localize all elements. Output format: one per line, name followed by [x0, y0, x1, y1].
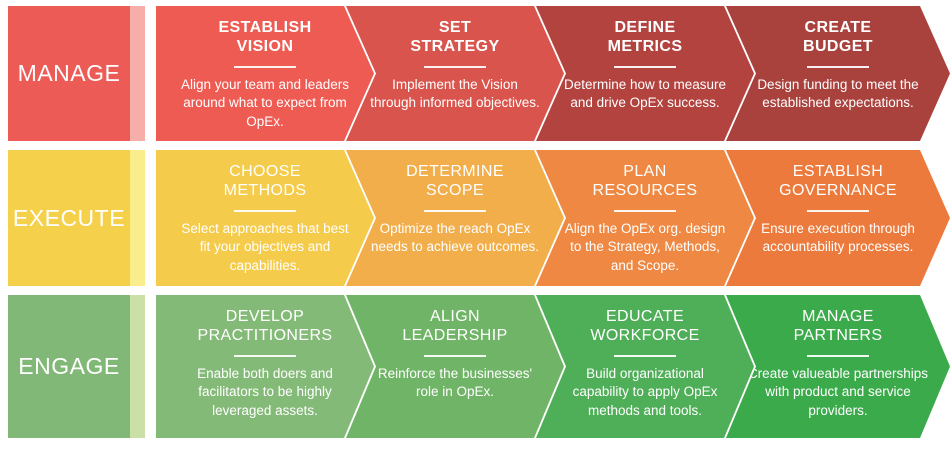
category-label-engage: ENGAGE [18, 353, 119, 380]
step-body-establish-vision: Align your team and leaders around what … [156, 76, 374, 132]
step-title-line2: VISION [237, 38, 294, 55]
step-arrow-create-budget[interactable]: CREATE BUDGET Design funding to meet the… [726, 6, 950, 141]
step-title-line1: DETERMINE [406, 163, 504, 180]
step-body-plan-resources: Align the OpEx org. design to the Strate… [536, 220, 754, 276]
step-body-establish-governance: Ensure execution through accountability … [726, 220, 950, 257]
step-title-define-metrics: DEFINE METRICS [574, 19, 717, 57]
row-engage: ENGAGE DEVELOP PRACTITIONERS Enable both… [0, 295, 950, 438]
step-arrow-develop-practitioners[interactable]: DEVELOP PRACTITIONERS Enable both doers … [156, 295, 374, 438]
arrow-group-execute: CHOOSE METHODS Select approaches that be… [156, 150, 950, 286]
step-title-set-strategy: SET STRATEGY [376, 19, 533, 57]
step-divider [807, 355, 869, 357]
step-divider [424, 66, 486, 68]
step-title-educate-workforce: EDUCATE WORKFORCE [556, 308, 733, 346]
step-title-line2: PRACTITIONERS [198, 327, 333, 344]
step-arrow-educate-workforce[interactable]: EDUCATE WORKFORCE Build organizational c… [536, 295, 754, 438]
category-label-manage: MANAGE [18, 60, 121, 87]
step-divider [614, 355, 676, 357]
step-body-create-budget: Design funding to meet the established e… [726, 76, 950, 113]
step-title-line2: LEADERSHIP [402, 327, 507, 344]
step-title-line1: PLAN [623, 163, 666, 180]
step-title-line1: SET [439, 19, 471, 36]
step-divider [807, 210, 869, 212]
step-arrow-align-leadership[interactable]: ALIGN LEADERSHIP Reinforce the businesse… [346, 295, 564, 438]
step-title-develop-practitioners: DEVELOP PRACTITIONERS [178, 308, 353, 346]
step-title-establish-governance: ESTABLISH GOVERNANCE [759, 163, 917, 201]
arrow-group-engage: DEVELOP PRACTITIONERS Enable both doers … [156, 295, 950, 438]
row-execute: EXECUTE CHOOSE METHODS Select approaches… [0, 150, 950, 286]
step-title-line1: DEVELOP [226, 308, 304, 325]
step-title-line2: METRICS [608, 38, 683, 55]
step-arrow-manage-partners[interactable]: MANAGE PARTNERS Create valueable partner… [726, 295, 950, 438]
arrow-group-manage: ESTABLISH VISION Align your team and lea… [156, 6, 950, 141]
step-body-manage-partners: Create valueable partnerships with produ… [726, 365, 950, 421]
category-block-execute: EXECUTE [8, 150, 145, 286]
step-arrow-establish-governance[interactable]: ESTABLISH GOVERNANCE Ensure execution th… [726, 150, 950, 286]
step-title-line1: DEFINE [614, 19, 675, 36]
step-title-line1: ALIGN [430, 308, 480, 325]
category-fill-execute: EXECUTE [8, 150, 130, 286]
step-title-line1: EDUCATE [606, 308, 684, 325]
step-divider [424, 355, 486, 357]
step-body-align-leadership: Reinforce the businesses' role in OpEx. [346, 365, 564, 402]
opex-framework-diagram: MANAGE ESTABLISH VISION Align your team … [0, 0, 950, 450]
step-divider [424, 210, 486, 212]
step-body-develop-practitioners: Enable both doers and facilitators to be… [156, 365, 374, 421]
step-divider [807, 66, 869, 68]
step-title-line2: WORKFORCE [590, 327, 699, 344]
step-title-manage-partners: MANAGE PARTNERS [774, 308, 903, 346]
category-fill-manage: MANAGE [8, 6, 130, 141]
step-body-determine-scope: Optimize the reach OpEx needs to achieve… [346, 220, 564, 257]
step-title-line2: PARTNERS [794, 327, 883, 344]
step-title-line2: RESOURCES [593, 182, 698, 199]
step-arrow-choose-methods[interactable]: CHOOSE METHODS Select approaches that be… [156, 150, 374, 286]
step-title-line2: GOVERNANCE [779, 182, 897, 199]
step-title-create-budget: CREATE BUDGET [783, 19, 893, 57]
step-arrow-set-strategy[interactable]: SET STRATEGY Implement the Vision throug… [346, 6, 564, 141]
step-title-line2: BUDGET [803, 38, 873, 55]
row-manage: MANAGE ESTABLISH VISION Align your team … [0, 6, 950, 141]
step-body-set-strategy: Implement the Vision through informed ob… [346, 76, 564, 113]
step-body-educate-workforce: Build organizational capability to apply… [536, 365, 754, 421]
step-title-align-leadership: ALIGN LEADERSHIP [368, 308, 541, 346]
step-divider [234, 210, 296, 212]
step-arrow-plan-resources[interactable]: PLAN RESOURCES Align the OpEx org. desig… [536, 150, 754, 286]
category-block-engage: ENGAGE [8, 295, 145, 438]
step-title-choose-methods: CHOOSE METHODS [190, 163, 341, 201]
step-title-line1: CREATE [805, 19, 872, 36]
step-divider [614, 210, 676, 212]
category-strip-execute [130, 150, 145, 286]
step-body-define-metrics: Determine how to measure and drive OpEx … [536, 76, 754, 113]
step-title-determine-scope: DETERMINE SCOPE [372, 163, 538, 201]
step-title-establish-vision: ESTABLISH VISION [184, 19, 345, 57]
step-title-plan-resources: PLAN RESOURCES [559, 163, 732, 201]
step-divider [234, 355, 296, 357]
step-arrow-define-metrics[interactable]: DEFINE METRICS Determine how to measure … [536, 6, 754, 141]
step-title-line2: METHODS [224, 182, 307, 199]
step-title-line1: MANAGE [802, 308, 874, 325]
step-divider [614, 66, 676, 68]
step-arrow-establish-vision[interactable]: ESTABLISH VISION Align your team and lea… [156, 6, 374, 141]
step-arrow-determine-scope[interactable]: DETERMINE SCOPE Optimize the reach OpEx … [346, 150, 564, 286]
step-title-line1: CHOOSE [229, 163, 301, 180]
step-body-choose-methods: Select approaches that best fit your obj… [156, 220, 374, 276]
category-fill-engage: ENGAGE [8, 295, 130, 438]
step-title-line2: SCOPE [426, 182, 484, 199]
category-strip-engage [130, 295, 145, 438]
category-strip-manage [130, 6, 145, 141]
step-title-line2: STRATEGY [410, 38, 499, 55]
category-block-manage: MANAGE [8, 6, 145, 141]
step-title-line1: ESTABLISH [218, 19, 311, 36]
step-divider [234, 66, 296, 68]
step-title-line1: ESTABLISH [793, 163, 883, 180]
category-label-execute: EXECUTE [13, 205, 125, 232]
